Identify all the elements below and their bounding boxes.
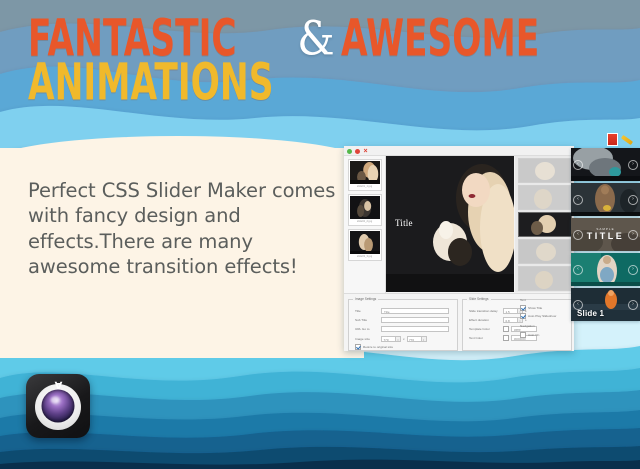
next-arrow-icon[interactable]: › bbox=[628, 195, 638, 205]
field-label: Slide transition delay bbox=[469, 309, 503, 313]
slide-settings-group: Slide Settings Slide transition delay 1.… bbox=[462, 299, 572, 351]
filmstrip-thumb bbox=[519, 186, 571, 209]
checkbox-icon[interactable] bbox=[503, 335, 509, 341]
window-body: slide01_1.jpg slide02_2.jpg bbox=[344, 156, 574, 351]
inner-filmstrip[interactable] bbox=[515, 156, 574, 292]
height-spinner[interactable]: ↕ bbox=[422, 336, 427, 342]
thumbnail-image bbox=[350, 161, 380, 184]
checkbox-icon[interactable] bbox=[355, 344, 361, 350]
filmstrip-thumb bbox=[519, 267, 571, 290]
thumbnail-rail[interactable]: slide01_1.jpg slide02_2.jpg bbox=[344, 156, 386, 311]
slide-preview-title[interactable]: SAMPLE TITLE ‹ › bbox=[571, 218, 640, 251]
image-settings-group: Image Settings Title Title Sub Title URL… bbox=[348, 299, 458, 351]
slide-label: Slide 1 bbox=[577, 309, 604, 318]
next-arrow-icon[interactable]: › bbox=[628, 160, 638, 170]
slide-preview-stage[interactable]: Title bbox=[386, 156, 514, 292]
field-row: Sub Title bbox=[355, 317, 449, 323]
auto-on-checkbox-row[interactable]: Auto On bbox=[520, 332, 539, 338]
slide-preview-stack[interactable]: ‹ › ‹ › SAMPLE bbox=[571, 148, 640, 323]
navigation-section-title: Navigation bbox=[520, 324, 535, 328]
filmstrip-thumb bbox=[519, 240, 571, 263]
app-window-screenshot[interactable]: × slide01_1.jpg bbox=[344, 146, 574, 351]
slide-preview-sports[interactable]: ‹ › bbox=[571, 253, 640, 286]
field-row: Title Title bbox=[355, 308, 449, 314]
checkbox-icon[interactable] bbox=[520, 313, 526, 319]
list-item[interactable]: slide03_3.jpg bbox=[348, 229, 382, 261]
logo-mark: ∀ bbox=[55, 381, 62, 392]
prev-arrow-icon[interactable]: ‹ bbox=[573, 195, 583, 205]
next-arrow-icon[interactable]: › bbox=[628, 230, 638, 240]
field-row: URL Go to bbox=[355, 326, 449, 332]
prev-arrow-icon[interactable]: ‹ bbox=[573, 300, 583, 310]
thumbnail-caption: slide02_2.jpg bbox=[350, 219, 380, 224]
text-section-title: Text bbox=[520, 298, 526, 302]
effect-duration-input[interactable]: 0.8 bbox=[503, 317, 518, 323]
text-color-label: Text Color bbox=[469, 336, 503, 340]
thumbnail-image bbox=[350, 231, 380, 254]
description-text: Perfect CSS Slider Maker comes with fanc… bbox=[28, 178, 338, 279]
auto-play-label: Auto Play Slideshow bbox=[528, 314, 556, 318]
list-item[interactable]: slide01_1.jpg bbox=[348, 159, 382, 191]
preview-title-overlay: Title bbox=[395, 218, 413, 228]
checkbox-icon[interactable] bbox=[503, 326, 509, 332]
width-spinner[interactable]: ↕ bbox=[396, 336, 401, 342]
maximize-button[interactable] bbox=[355, 149, 360, 154]
pencil-icon[interactable] bbox=[621, 134, 633, 144]
filmstrip-cell-selected[interactable] bbox=[518, 212, 572, 237]
next-arrow-icon[interactable]: › bbox=[628, 300, 638, 310]
field-label: Effect duration bbox=[469, 318, 503, 322]
image-size-row: Image size 770 ↕ x 770 ↕ bbox=[355, 336, 427, 342]
filmstrip-thumb bbox=[519, 213, 571, 236]
slide-preview-athlete[interactable]: ‹ › bbox=[571, 183, 640, 216]
thumbnail-caption: slide01_1.jpg bbox=[350, 184, 380, 189]
filmstrip-cell[interactable] bbox=[518, 158, 572, 183]
prev-arrow-icon[interactable]: ‹ bbox=[573, 160, 583, 170]
filmstrip-thumb bbox=[519, 159, 571, 182]
subtitle-input[interactable] bbox=[381, 317, 449, 323]
close-icon[interactable]: × bbox=[363, 149, 368, 154]
slide-preview-slide-one[interactable]: Slide 1 ‹ › bbox=[571, 288, 640, 321]
filmstrip-cell[interactable] bbox=[518, 266, 572, 291]
size-separator: x bbox=[403, 337, 405, 341]
resize-checkbox-row[interactable]: Resize to original size bbox=[355, 344, 393, 350]
field-label: Title bbox=[355, 309, 381, 313]
window-titlebar: × bbox=[344, 146, 574, 156]
image-width-input[interactable]: 770 bbox=[381, 336, 396, 342]
image-height-input[interactable]: 770 bbox=[407, 336, 422, 342]
field-label: URL Go to bbox=[355, 327, 381, 331]
show-title-label: Show Title bbox=[528, 306, 542, 310]
resize-checkbox-label: Resize to original size bbox=[363, 345, 393, 349]
image-size-label: Image size bbox=[355, 337, 381, 341]
filmstrip-cell[interactable] bbox=[518, 239, 572, 264]
auto-play-checkbox-row[interactable]: Auto Play Slideshow bbox=[520, 313, 556, 319]
prev-arrow-icon[interactable]: ‹ bbox=[573, 265, 583, 275]
description-panel: Perfect CSS Slider Maker comes with fanc… bbox=[0, 148, 364, 358]
slide-settings-title: Slide Settings bbox=[467, 297, 491, 301]
red-book-icon[interactable] bbox=[607, 133, 618, 146]
poster-canvas: FANTASTIC & AWESOME ANIMATIONS Perfect C… bbox=[0, 0, 640, 469]
thumbnail-caption: slide03_3.jpg bbox=[350, 254, 380, 259]
prev-arrow-icon[interactable]: ‹ bbox=[573, 230, 583, 240]
transition-delay-input[interactable]: 1.5 bbox=[503, 308, 518, 314]
slide-preview-dark-detail[interactable]: ‹ › bbox=[571, 148, 640, 181]
field-label: Sub Title bbox=[355, 318, 381, 322]
mini-icon-group[interactable] bbox=[607, 133, 633, 146]
checkbox-icon[interactable] bbox=[520, 332, 526, 338]
auto-on-label: Auto On bbox=[528, 333, 539, 337]
title-input[interactable]: Title bbox=[381, 308, 449, 314]
settings-area: Image Settings Title Title Sub Title URL… bbox=[344, 293, 574, 351]
show-title-checkbox-row[interactable]: Show Title bbox=[520, 305, 542, 311]
url-input[interactable] bbox=[381, 326, 449, 332]
filmstrip-cell[interactable] bbox=[518, 185, 572, 210]
next-arrow-icon[interactable]: › bbox=[628, 265, 638, 275]
minimize-button[interactable] bbox=[347, 149, 352, 154]
thumbnail-image bbox=[350, 196, 380, 219]
camera-app-icon[interactable]: ∀ bbox=[26, 374, 90, 438]
template-color-label: Template Color bbox=[469, 327, 503, 331]
lens-glass bbox=[42, 390, 75, 423]
list-item[interactable]: slide02_2.jpg bbox=[348, 194, 382, 226]
image-settings-title: Image Settings bbox=[353, 297, 378, 301]
checkbox-icon[interactable] bbox=[520, 305, 526, 311]
